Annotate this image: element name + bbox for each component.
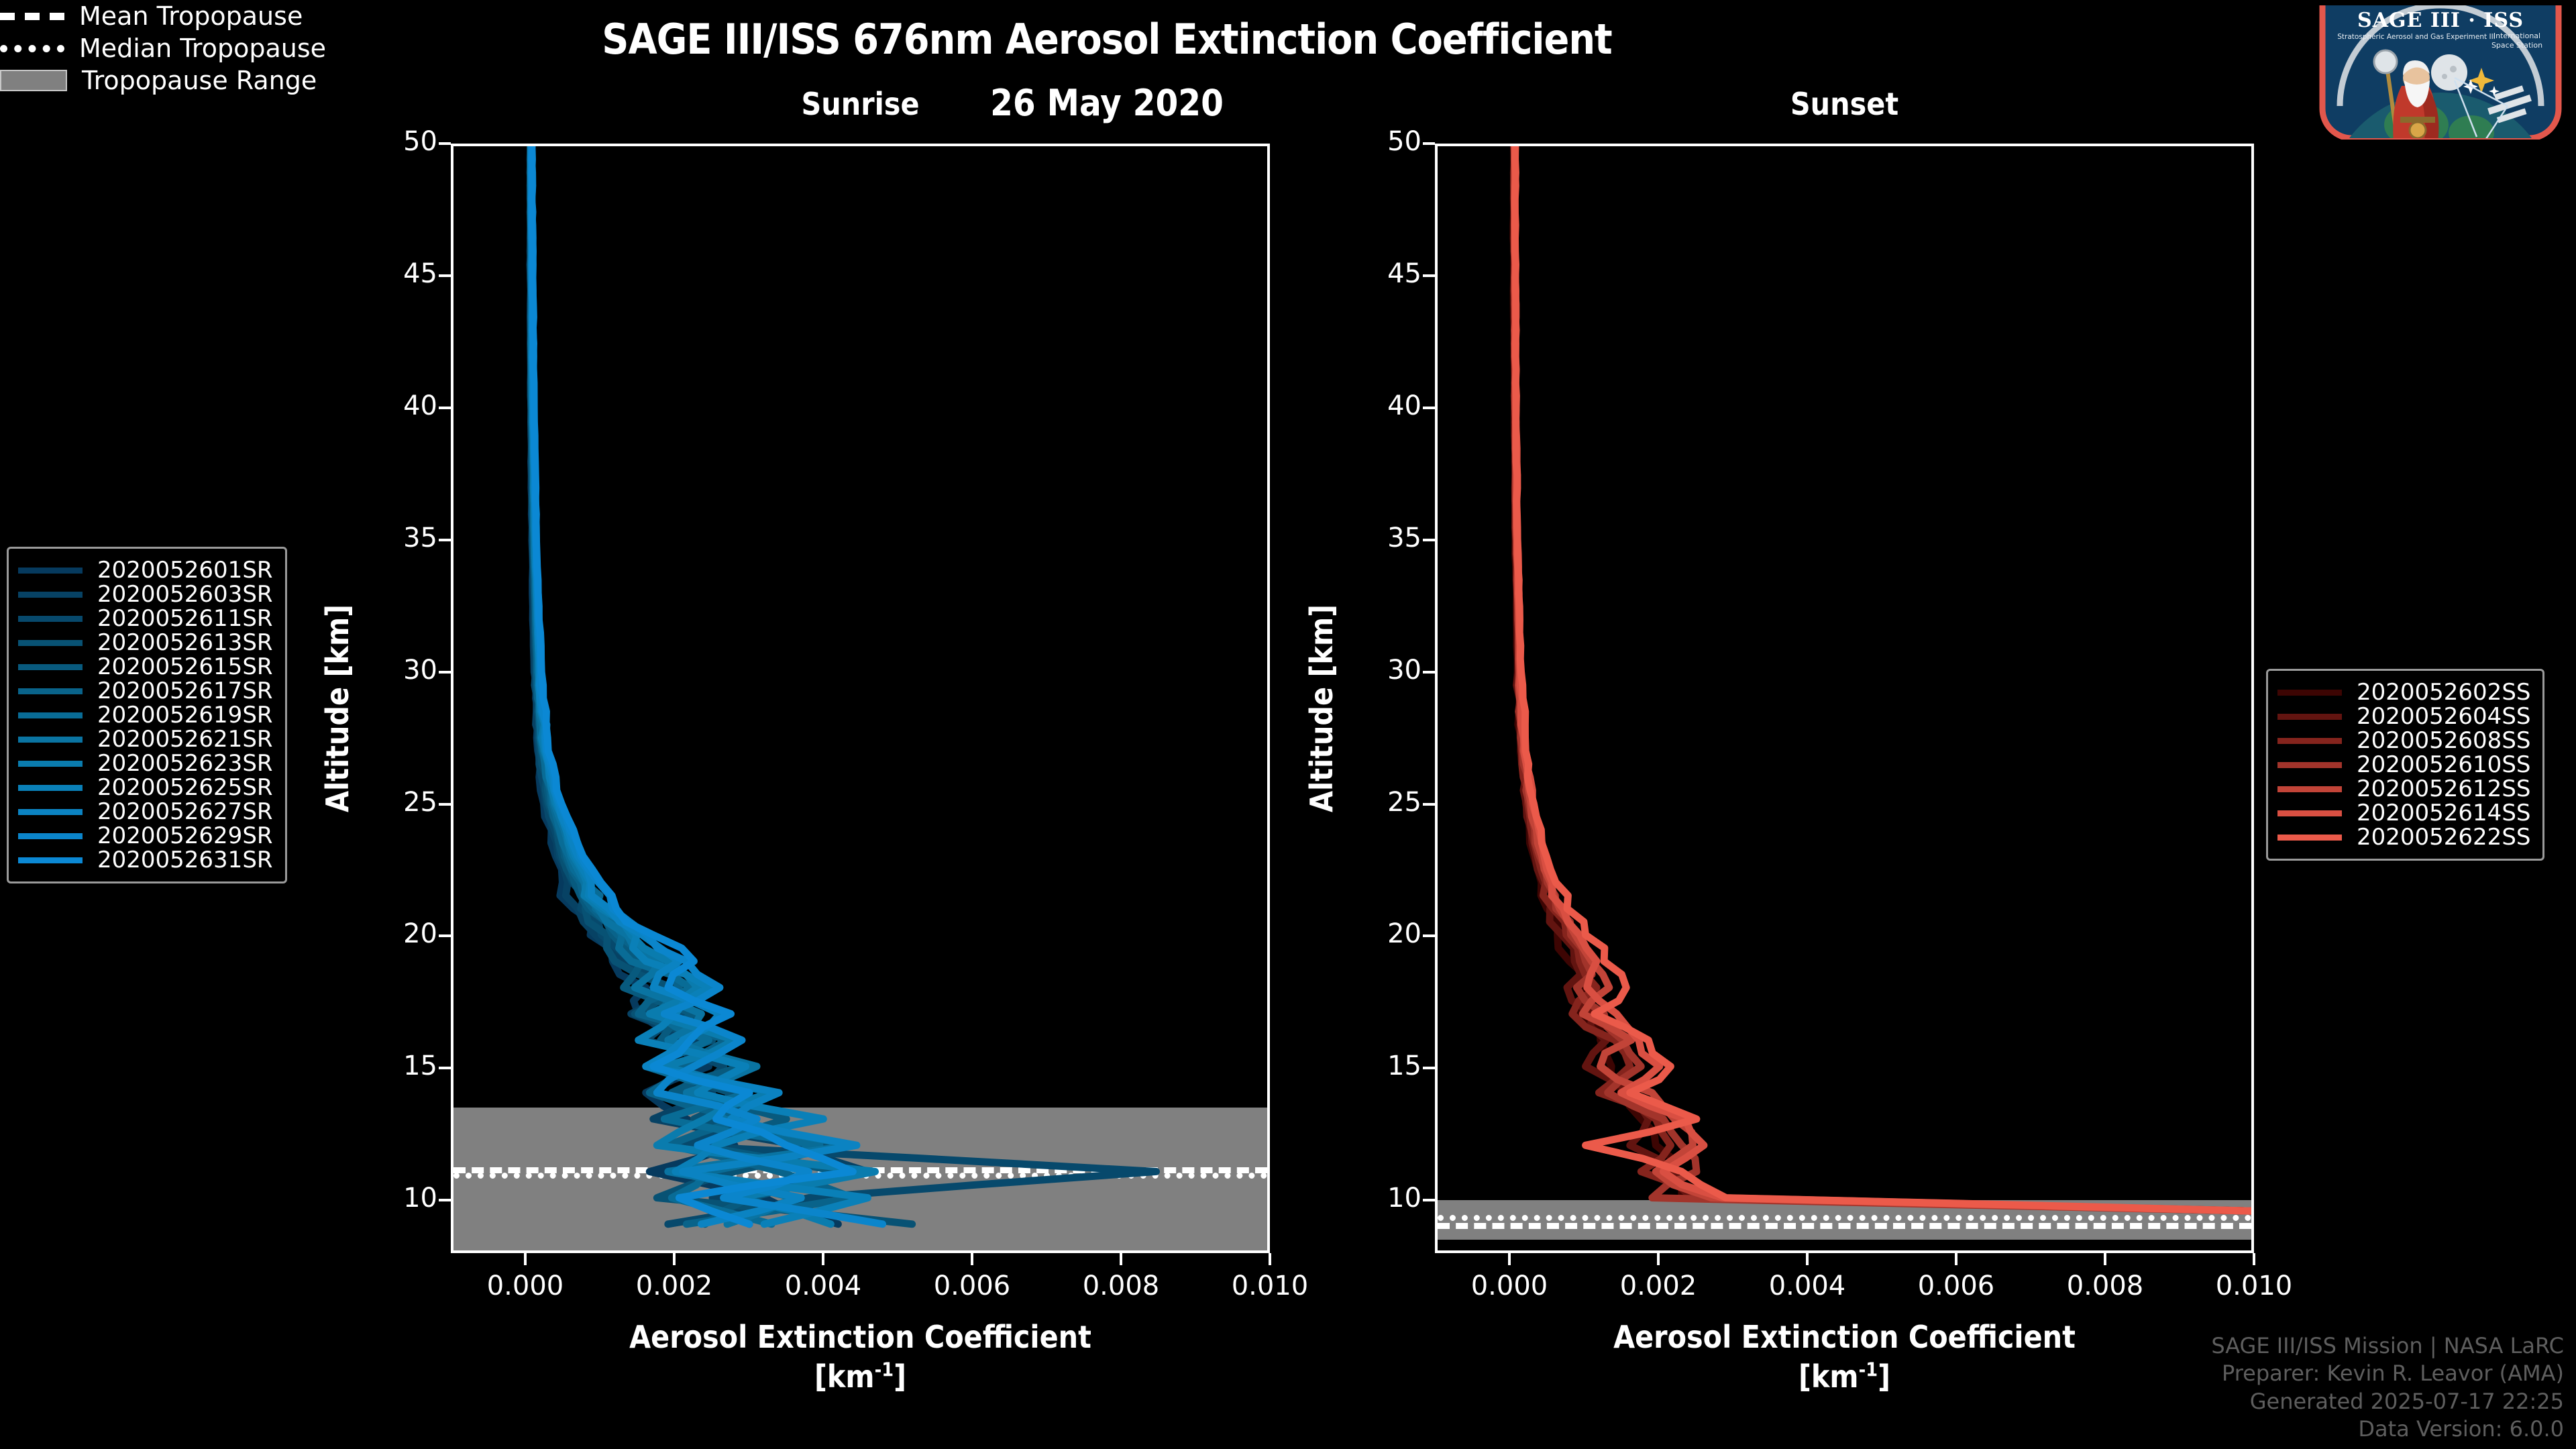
x-tick-label-sunrise: 0.010	[1203, 1271, 1337, 1301]
y-tick-mark-sunset	[1423, 934, 1435, 937]
legend-event-label: 2020052602SS	[2357, 679, 2530, 706]
x-axis-label-sunrise: Aerosol Extinction Coefficient [km-1]	[451, 1318, 1270, 1397]
x-tick-label-sunset: 0.006	[1889, 1271, 2023, 1301]
credit-preparer: Preparer: Kevin R. Leavor (AMA)	[2211, 1360, 2564, 1388]
legend-item-sunset[interactable]: 2020052614SS	[2277, 801, 2530, 825]
y-axis-label-sunrise: Altitude [km]	[319, 604, 356, 812]
legend-color-swatch	[2277, 810, 2342, 816]
legend-sunset[interactable]: 2020052602SS2020052604SS2020052608SS2020…	[2266, 669, 2544, 861]
panel-title-sunset: Sunset	[1435, 86, 2254, 122]
panel-title-sunrise: Sunrise	[451, 86, 1270, 122]
y-tick-label-sunrise: 50	[357, 126, 437, 157]
x-tick-mark-sunrise	[524, 1253, 527, 1265]
legend-event-label: 2020052604SS	[2357, 703, 2530, 730]
x-axis-label-line1: Aerosol Extinction Coefficient	[629, 1319, 1091, 1355]
x-axis-units: [km-1]	[814, 1358, 906, 1395]
legend-sunrise[interactable]: 2020052601SR2020052603SR2020052611SR2020…	[7, 547, 287, 883]
x-tick-label-sunrise: 0.008	[1054, 1271, 1188, 1301]
legend-event-label: 2020052627SR	[97, 798, 273, 825]
x-tick-label-sunset: 0.010	[2187, 1271, 2321, 1301]
y-tick-mark-sunrise	[439, 407, 451, 409]
y-axis-label-sunset: Altitude [km]	[1303, 604, 1340, 812]
y-tick-label-sunset: 25	[1341, 787, 1421, 818]
legend-color-swatch	[2277, 738, 2342, 744]
legend-event-label: 2020052601SR	[97, 557, 273, 584]
series-curves-sunrise	[453, 146, 1267, 1250]
plot-area-sunrise	[451, 144, 1270, 1253]
page-title: SAGE III/ISS 676nm Aerosol Extinction Co…	[0, 15, 2214, 64]
legend-color-swatch	[18, 712, 83, 718]
legend-color-swatch	[18, 592, 83, 598]
legend-item-sunrise[interactable]: 2020052625SR	[18, 775, 273, 800]
legend-color-swatch	[2277, 786, 2342, 792]
x-tick-mark-sunrise	[822, 1253, 824, 1265]
logo-subtitle-right-2: Space Station	[2491, 41, 2542, 50]
y-tick-mark-sunrise	[439, 1199, 451, 1201]
legend-color-swatch	[2277, 714, 2342, 720]
y-tick-mark-sunset	[1423, 142, 1435, 145]
logo-subtitle-left: Stratospheric Aerosol and Gas Experiment…	[2337, 33, 2495, 41]
legend-color-swatch	[2277, 835, 2342, 841]
legend-color-swatch	[18, 809, 83, 815]
legend-item-sunrise[interactable]: 2020052617SR	[18, 679, 273, 703]
y-tick-mark-sunrise	[439, 934, 451, 937]
series-line	[530, 146, 1156, 1224]
legend-color-swatch	[18, 737, 83, 743]
legend-event-label: 2020052631SR	[97, 847, 273, 873]
y-tick-label-sunset: 40	[1341, 390, 1421, 421]
y-tick-label-sunrise: 15	[357, 1051, 437, 1081]
series-line	[1514, 146, 2251, 1211]
series-line	[531, 146, 882, 1224]
legend-event-label: 2020052610SS	[2357, 751, 2530, 778]
credit-data-version: Data Version: 6.0.0	[2211, 1415, 2564, 1444]
y-tick-label-sunrise: 10	[357, 1183, 437, 1214]
legend-item-sunrise[interactable]: 2020052603SR	[18, 582, 273, 606]
x-tick-mark-sunset	[1955, 1253, 1957, 1265]
legend-color-swatch	[18, 857, 83, 863]
x-tick-mark-sunset	[2104, 1253, 2106, 1265]
x-tick-label-sunrise: 0.006	[905, 1271, 1039, 1301]
credit-mission: SAGE III/ISS Mission | NASA LaRC	[2211, 1332, 2564, 1360]
x-tick-label-sunset: 0.002	[1591, 1271, 1725, 1301]
y-tick-mark-sunrise	[439, 142, 451, 145]
x-tick-mark-sunrise	[673, 1253, 676, 1265]
legend-item-sunset[interactable]: 2020052622SS	[2277, 825, 2530, 849]
y-tick-label-sunset: 15	[1341, 1051, 1421, 1081]
y-tick-mark-sunset	[1423, 1067, 1435, 1069]
y-tick-label-sunrise: 30	[357, 655, 437, 686]
legend-color-swatch	[2277, 690, 2342, 696]
x-tick-mark-sunrise	[1120, 1253, 1122, 1265]
legend-event-label: 2020052617SR	[97, 678, 273, 704]
x-tick-mark-sunset	[1508, 1253, 1511, 1265]
y-tick-label-sunrise: 40	[357, 390, 437, 421]
legend-event-label: 2020052619SR	[97, 702, 273, 729]
legend-event-label: 2020052623SR	[97, 750, 273, 777]
y-tick-label-sunset: 35	[1341, 523, 1421, 553]
legend-event-label: 2020052612SS	[2357, 775, 2530, 802]
x-axis-label-sunset: Aerosol Extinction Coefficient [km-1]	[1435, 1318, 2254, 1397]
x-tick-label-sunset: 0.004	[1740, 1271, 1874, 1301]
legend-item-sunset[interactable]: 2020052602SS	[2277, 680, 2530, 704]
legend-event-label: 2020052622SS	[2357, 824, 2530, 851]
x-tick-label-sunrise: 0.004	[756, 1271, 890, 1301]
plot-area-sunset	[1435, 144, 2254, 1253]
legend-event-label: 2020052613SR	[97, 629, 273, 656]
x-tick-label-sunrise: 0.000	[458, 1271, 592, 1301]
y-tick-mark-sunset	[1423, 274, 1435, 277]
credit-generated: Generated 2025-07-17 22:25	[2211, 1388, 2564, 1416]
y-tick-mark-sunset	[1423, 671, 1435, 674]
series-line	[531, 146, 853, 1224]
legend-item-sunrise[interactable]: 2020052611SR	[18, 606, 273, 631]
legend-event-label: 2020052621SR	[97, 726, 273, 753]
y-tick-label-sunrise: 35	[357, 523, 437, 553]
y-tick-label-sunrise: 25	[357, 787, 437, 818]
legend-item-sunset[interactable]: 2020052604SS	[2277, 704, 2530, 729]
y-tick-mark-sunset	[1423, 1199, 1435, 1201]
y-tick-label-sunrise: 45	[357, 258, 437, 289]
legend-item-sunset[interactable]: 2020052608SS	[2277, 729, 2530, 753]
legend-item-sunrise[interactable]: 2020052627SR	[18, 800, 273, 824]
legend-event-label: 2020052611SR	[97, 605, 273, 632]
legend-color-swatch	[18, 761, 83, 767]
y-tick-label-sunrise: 20	[357, 918, 437, 949]
legend-item-sunset[interactable]: 2020052612SS	[2277, 777, 2530, 801]
legend-event-label: 2020052608SS	[2357, 727, 2530, 754]
sage-iii-iss-logo: NASA LaRC · ESA SAGE III · ISS Stratosph…	[2316, 5, 2565, 140]
legend-color-swatch	[18, 616, 83, 622]
x-tick-mark-sunset	[1806, 1253, 1809, 1265]
legend-item-sunrise[interactable]: 2020052619SR	[18, 703, 273, 727]
y-tick-mark-sunrise	[439, 803, 451, 806]
y-tick-label-sunset: 45	[1341, 258, 1421, 289]
credits-block: SAGE III/ISS Mission | NASA LaRC Prepare…	[2211, 1332, 2564, 1444]
y-tick-label-sunset: 20	[1341, 918, 1421, 949]
x-tick-mark-sunrise	[971, 1253, 973, 1265]
legend-event-label: 2020052615SR	[97, 653, 273, 680]
legend-event-label: 2020052614SS	[2357, 800, 2530, 826]
legend-color-swatch	[18, 688, 83, 694]
y-tick-mark-sunrise	[439, 671, 451, 674]
legend-item-sunrise[interactable]: 2020052601SR	[18, 558, 273, 582]
y-tick-label-sunset: 50	[1341, 126, 1421, 157]
y-tick-mark-sunrise	[439, 539, 451, 541]
x-axis-label-line1: Aerosol Extinction Coefficient	[1613, 1319, 2076, 1355]
legend-color-swatch	[18, 833, 83, 839]
y-tick-mark-sunrise	[439, 274, 451, 277]
legend-item-sunrise[interactable]: 2020052621SR	[18, 727, 273, 751]
x-tick-label-sunrise: 0.002	[607, 1271, 741, 1301]
x-axis-units: [km-1]	[1799, 1358, 1890, 1395]
legend-color-swatch	[18, 664, 83, 670]
y-tick-label-sunset: 10	[1341, 1183, 1421, 1214]
legend-item-sunrise[interactable]: 2020052613SR	[18, 631, 273, 655]
legend-item-sunrise[interactable]: 2020052631SR	[18, 848, 273, 872]
legend-color-swatch	[18, 640, 83, 646]
legend-event-label: 2020052625SR	[97, 774, 273, 801]
legend-item-sunrise[interactable]: 2020052615SR	[18, 655, 273, 679]
legend-event-label: 2020052629SR	[97, 822, 273, 849]
legend-event-label: 2020052603SR	[97, 581, 273, 608]
logo-title: SAGE III · ISS	[2357, 9, 2524, 32]
x-tick-mark-sunrise	[1269, 1253, 1271, 1265]
y-tick-label-sunset: 30	[1341, 655, 1421, 686]
x-tick-label-sunset: 0.000	[1442, 1271, 1576, 1301]
y-tick-mark-sunrise	[439, 1067, 451, 1069]
y-tick-mark-sunset	[1423, 803, 1435, 806]
logo-subtitle-right-1: International	[2493, 32, 2540, 40]
x-tick-label-sunset: 0.008	[2038, 1271, 2172, 1301]
legend-item-sunrise[interactable]: 2020052629SR	[18, 824, 273, 848]
x-tick-mark-sunset	[1657, 1253, 1660, 1265]
legend-color-swatch	[2277, 762, 2342, 768]
legend-color-swatch	[18, 785, 83, 791]
series-curves-sunset	[1438, 146, 2251, 1250]
legend-item-sunrise[interactable]: 2020052623SR	[18, 751, 273, 775]
legend-item-sunset[interactable]: 2020052610SS	[2277, 753, 2530, 777]
legend-color-swatch	[18, 568, 83, 574]
y-tick-mark-sunset	[1423, 539, 1435, 541]
x-tick-mark-sunset	[2253, 1253, 2255, 1265]
y-tick-mark-sunset	[1423, 407, 1435, 409]
